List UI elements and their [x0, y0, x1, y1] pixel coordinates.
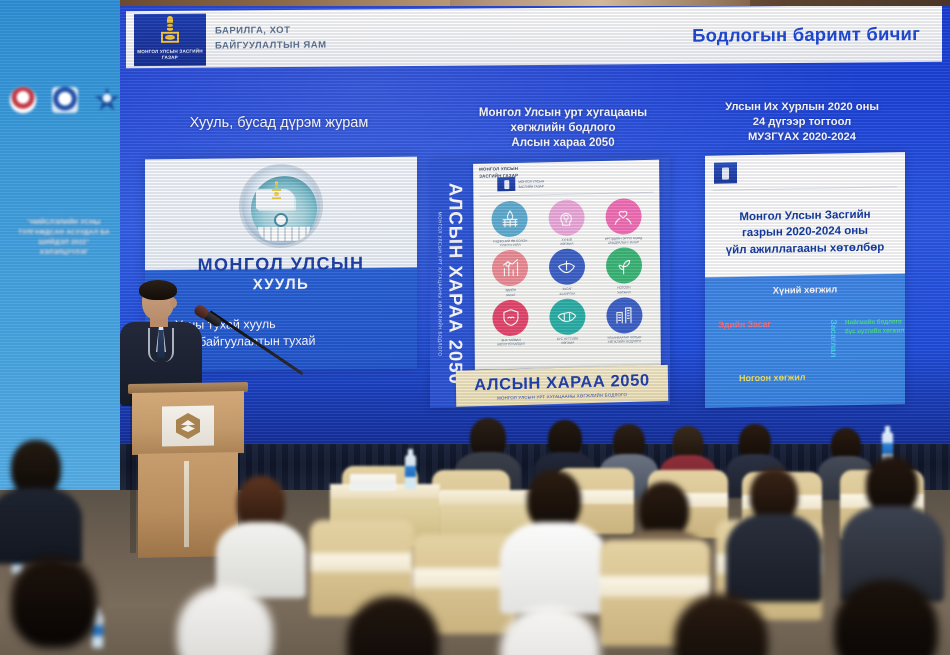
vision-icon-cell: ҮНДЭСНИЙ ӨВ БОЛОН ХҮМҮҮН ЗҮЙЛ [483, 200, 536, 248]
vision-icon-label: ЭНХ ТАЙВАН АЮУЛГҮЙ БАЙДАЛ [488, 337, 534, 346]
podium-plate [162, 406, 214, 447]
word-social-policy: Нийгмийн бодлого бүс нутгийн хөгжил [845, 318, 904, 336]
governance-icon [549, 249, 585, 286]
economy-icon [492, 250, 528, 287]
vision-icon-label: ЭДИЙН ЗАСАГ [488, 288, 534, 297]
slide-card-government-program: Монгол Улсын Засгийн газрын 2020-2024 он… [705, 152, 905, 408]
vision-icon-cell: БҮС НУТГИЙН ХӨГЖИЛ [541, 298, 594, 346]
audience-person [806, 580, 950, 655]
column-heading-vision: Монгол Улсын урт хугацааны хөгжлийн бодл… [438, 106, 688, 152]
state-emblem [239, 164, 323, 249]
logo-star-3-icon [94, 87, 120, 113]
column-heading-government: Улсын Их Хурлын 2020 оны 24 дүгээр тогто… [682, 100, 922, 144]
audience-person [470, 606, 630, 655]
screenshot-root: "НИЙСЛЭЛИЙН УСНЫ ТУЛГАМДСАН АСУУДАЛ БА Ш… [0, 0, 950, 655]
vision-page-divider [479, 192, 653, 197]
vision-icon-label: БҮС НУТГИЙН ХӨГЖИЛ [545, 336, 591, 345]
audience-person [318, 596, 468, 655]
word-economy: Эдийн Засаг [718, 319, 771, 330]
vision-page: МОНГОЛ УЛСЫН ЗАСГИЙН ГАЗАР МОНГОЛ УЛСЫН … [473, 160, 661, 370]
green-development-icon [606, 247, 642, 284]
microphone-stand [196, 300, 326, 410]
vision-sidebar-subtitle: МОНГОЛ УЛСЫН УРТ ХУГАЦААНЫ ХӨГЖЛИЙН БОДЛ… [438, 183, 443, 385]
quality-of-life-icon [605, 198, 641, 235]
logo-emblem-2-icon [52, 87, 78, 113]
government-of-mongolia-logo-icon [714, 162, 737, 183]
audience-person [216, 476, 306, 594]
audience-person [840, 456, 944, 598]
audience-person [646, 594, 796, 655]
government-logo-caption: МОНГОЛ УЛСЫН ЗАСГИЙН ГАЗАР [134, 48, 206, 61]
audience-person [0, 440, 82, 560]
vision-icon-cell: ЗАСАГ ЗАХИРГАА [541, 249, 594, 297]
vision-icon-label: ХҮНИЙ ХӨГЖИЛ [544, 237, 590, 246]
regional-development-icon [549, 298, 585, 335]
table-placard [350, 474, 396, 490]
audience-person [150, 586, 300, 655]
column-heading-law: Хууль, бусад дүрэм журам [144, 114, 414, 133]
vision-sidebar-title: АЛСЫН ХАРАА 2050 [445, 182, 467, 384]
vision-icon-cell: УЛААНБААТАР ХОТЫН ХӨГЖЛИЙН БОДЛОГО [598, 297, 651, 345]
word-human-development: Хүний хөгжил [773, 283, 837, 295]
vision-icon-label: ИРГЭДИЙН ЭРҮҮЛ МЭНД АМЬДРАЛЫН ЧАНАР [600, 236, 646, 245]
vision-sidebar: АЛСЫН ХАРАА 2050 МОНГОЛ УЛСЫН УРТ ХУГАЦА… [432, 165, 472, 402]
value-heritage-icon [492, 201, 528, 238]
gov-divider [713, 186, 897, 191]
slide-header-bar: МОНГОЛ УЛСЫН ЗАСГИЙН ГАЗАР БАРИЛГА, ХОТ … [126, 6, 942, 68]
vision-icon-label: НОГООН ХӨГЖИЛ [601, 285, 647, 294]
audience-person [726, 468, 822, 598]
vision-icon-grid: ҮНДЭСНИЙ ӨВ БОЛОН ХҮМҮҮН ЗҮЙЛХҮНИЙ ХӨГЖИ… [483, 198, 650, 347]
water-bottle [405, 455, 416, 489]
event-title-poster: "НИЙСЛЭЛИЙН УСНЫ ТУЛГАМДСАН АСУУДАЛ БА Ш… [2, 218, 126, 258]
ministry-name: БАРИЛГА, ХОТ БАЙГУУЛАЛТЫН ЯАМ [215, 24, 327, 53]
slide-title: Бодлогын баримт бичиг [692, 22, 920, 46]
government-logo: МОНГОЛ УЛСЫН ЗАСГИЙН ГАЗАР [134, 13, 206, 66]
audience-person [500, 470, 608, 610]
vision-icon-label: ЗАСАГ ЗАХИРГАА [544, 287, 590, 296]
word-green-development: Ногоон хөгжил [739, 372, 805, 383]
wall-poster-logos [2, 84, 128, 116]
vision-icon-label: ҮНДЭСНИЙ ӨВ БОЛОН ХҮМҮҮН ЗҮЙЛ [487, 239, 533, 248]
vision-banner: АЛСЫН ХАРАА 2050 МОНГОЛ УЛСЫН УРТ ХУГАЦА… [456, 365, 668, 407]
peace-security-icon [493, 299, 529, 336]
vision-page-logo [497, 177, 515, 191]
vision-icon-cell: ИРГЭДИЙН ЭРҮҮЛ МЭНД АМЬДРАЛЫН ЧАНАР [597, 198, 650, 246]
vision-icon-cell: ЭНХ ТАЙВАН АЮУЛГҮЙ БАЙДАЛ [484, 299, 537, 347]
urban-development-icon [606, 297, 642, 334]
word-governance: Засаглал [829, 319, 839, 357]
law-title-line1: МОНГОЛ УЛСЫН [145, 253, 417, 277]
human-development-icon [548, 199, 584, 236]
gov-program-title: Монгол Улсын Засгийн газрын 2020-2024 он… [715, 206, 895, 258]
logo-emblem-1-icon [10, 87, 36, 113]
audience-person [0, 556, 124, 655]
vision-icon-cell: ХҮНИЙ ХӨГЖИЛ [540, 199, 593, 247]
vision-icon-cell: НОГООН ХӨГЖИЛ [597, 247, 650, 295]
vision-icon-label: УЛААНБААТАР ХОТЫН ХӨГЖЛИЙН БОДЛОГО [601, 335, 647, 344]
podium-hexagon-emblem-icon [176, 413, 200, 439]
gov-word-cloud: Хүний хөгжил Эдийн Засаг Засаглал Нийгми… [705, 274, 905, 406]
vision-icon-cell: ЭДИЙН ЗАСАГ [484, 250, 537, 298]
vision-page-logo-text: МОНГОЛ УЛСЫН ЗАСГИЙН ГАЗАР [518, 179, 544, 189]
soyombo-icon [160, 15, 180, 47]
soyombo-emblem-icon [272, 181, 281, 207]
slide-card-vision-2050: АЛСЫН ХАРАА 2050 МОНГОЛ УЛСЫН УРТ ХУГАЦА… [430, 156, 670, 407]
